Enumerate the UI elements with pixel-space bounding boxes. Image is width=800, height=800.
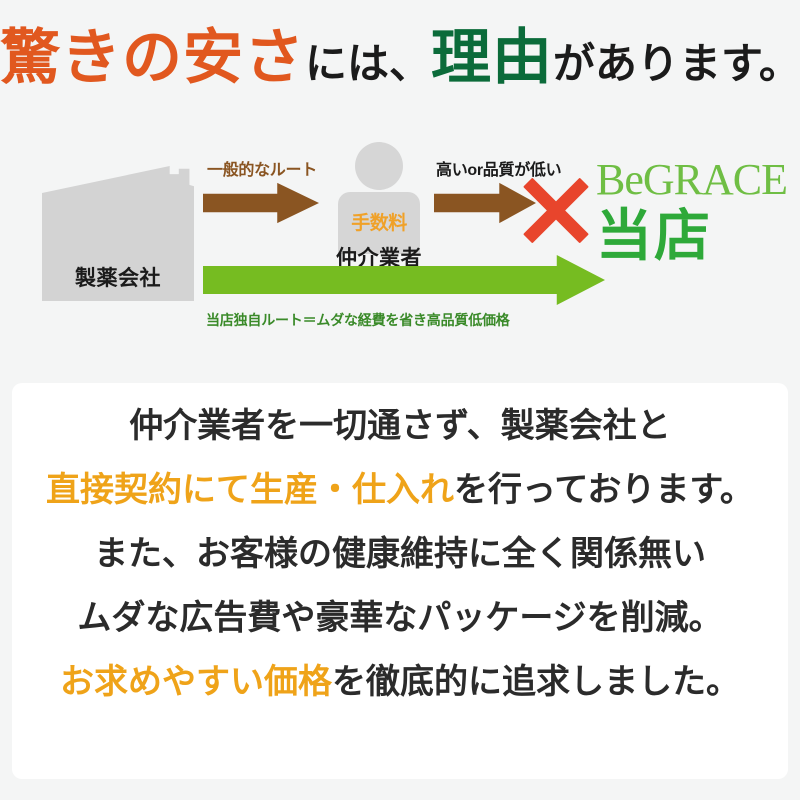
brand-block: BeGRACE 当店: [596, 158, 796, 264]
pharmaceutical-company-label: 製薬会社: [42, 262, 194, 292]
page-headline: 驚きの安さには、理由があります。: [0, 28, 800, 88]
supply-chain-diagram: 製薬会社 一般的なルート 手数料 仲介業者 高いor品質が低い 当店独自ルート＝…: [0, 130, 800, 340]
own-route-label: 当店独自ルート＝ムダな経費を省き高品質低価格: [206, 310, 510, 330]
promo-infographic-page: { "headline": { "part1": "驚きの安さ", "part2…: [0, 0, 800, 800]
commission-fee-label: 手数料: [338, 208, 420, 235]
description-line: 直接契約にて生産・仕入れを行っております。: [12, 473, 788, 507]
description-line: ムダな広告費や豪華なパッケージを削減。: [12, 601, 788, 635]
headline-part-exists: があります。: [553, 40, 800, 87]
brown-arrow-icon-first: [203, 182, 319, 224]
description-plain-text: を徹底的に追求しました。: [332, 663, 740, 701]
our-store-label: 当店: [596, 208, 796, 264]
description-line: 仲介業者を一切通さず、製薬会社と: [12, 409, 788, 443]
description-accent-text: お求めやすい価格: [60, 663, 332, 701]
headline-part-surprise-price: 驚きの安さ: [0, 24, 305, 91]
description-line: お求めやすい価格を徹底的に追求しました。: [12, 665, 788, 699]
general-route-label: 一般的なルート: [207, 156, 317, 180]
description-plain-text: また、お客様の健康維持に全く関係無い: [94, 535, 706, 573]
description-plain-text: 仲介業者を一切通さず、製薬会社と: [129, 407, 671, 445]
description-panel: 仲介業者を一切通さず、製薬会社と 直接契約にて生産・仕入れを行っております。 ま…: [12, 383, 788, 779]
pharmaceutical-company-node: 製薬会社: [42, 166, 194, 301]
headline-part-connector: には、: [305, 40, 431, 87]
begrace-logo: BeGRACE: [596, 158, 796, 202]
person-head-icon: [355, 142, 403, 190]
description-plain-text: を行っております。: [454, 471, 754, 509]
description-plain-text: ムダな広告費や豪華なパッケージを削減。: [77, 599, 722, 637]
cross-x-icon: [520, 174, 592, 246]
description-accent-text: 直接契約にて生産・仕入れ: [46, 471, 454, 509]
headline-part-reason: 理由: [431, 24, 553, 91]
description-line: また、お客様の健康維持に全く関係無い: [12, 537, 788, 571]
middleman-node: 手数料 仲介業者: [338, 142, 420, 270]
